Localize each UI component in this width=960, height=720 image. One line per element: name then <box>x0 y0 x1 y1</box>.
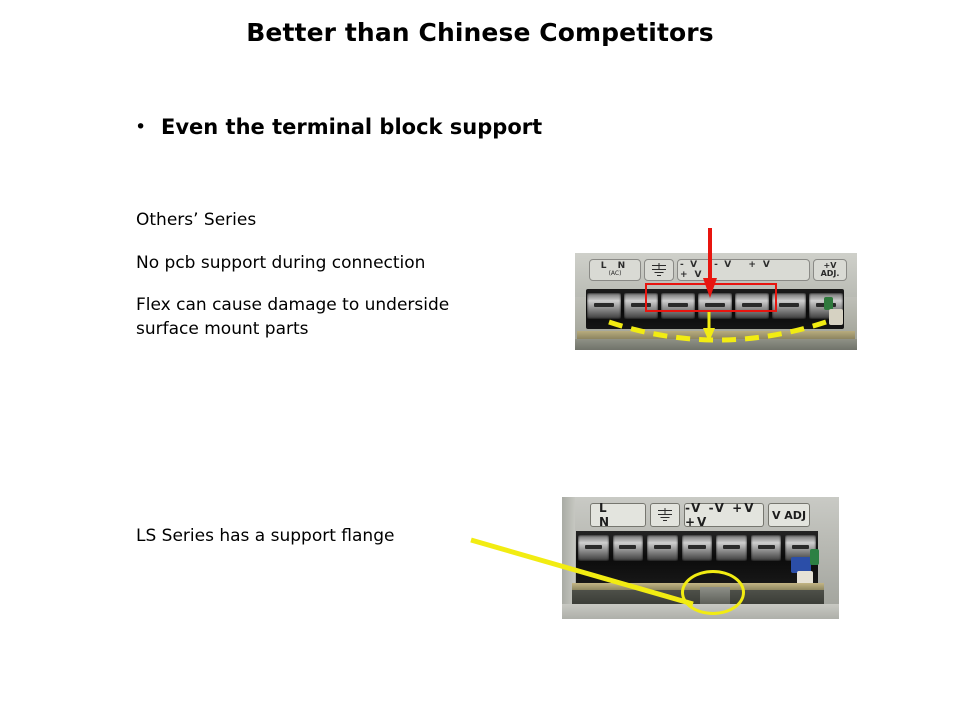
label-ac-text: (AC) <box>609 270 622 278</box>
label-v-adj-bottom: ADJ. <box>821 270 840 278</box>
label-ground <box>650 503 680 527</box>
no-pcb-support-label: No pcb support during connection <box>136 251 425 275</box>
ground-icon <box>657 508 673 522</box>
label-ln-ac: L N (AC) <box>589 259 641 281</box>
green-component <box>810 549 819 565</box>
label-voltage-rail: -V -V +V +V <box>684 503 764 527</box>
white-component <box>829 309 843 325</box>
bullet-heading-label: Even the terminal block support <box>161 113 542 141</box>
label-ground <box>644 259 674 281</box>
flex-damage-label: Flex can cause damage to underside surfa… <box>136 293 556 341</box>
label-v-adj: +V ADJ. <box>813 259 847 281</box>
page-title: Better than Chinese Competitors <box>0 18 960 47</box>
ground-icon <box>651 263 667 277</box>
yellow-dashed-flex-curve <box>605 312 830 352</box>
label-ln-text: L N <box>601 262 629 270</box>
label-voltage-rail: -V -V +V +V <box>677 259 810 281</box>
slide-canvas: Better than Chinese Competitors • Even t… <box>0 0 960 720</box>
terminal-label-strip: L N (AC) -V -V +V +V +V ADJ. <box>589 257 847 283</box>
ls-series-flange-label: LS Series has a support flange <box>136 524 394 548</box>
terminal-label-strip: L N -V -V +V +V V ADJ <box>590 502 810 528</box>
bullet-marker-icon: • <box>135 113 161 141</box>
red-down-arrow-icon <box>703 228 717 298</box>
others-series-label: Others’ Series <box>136 208 256 232</box>
label-v-adj: V ADJ <box>768 503 810 527</box>
bullet-heading: • Even the terminal block support <box>135 113 542 141</box>
label-l-n: L N <box>590 503 646 527</box>
terminal-screw <box>751 535 782 561</box>
yellow-highlight-ellipse <box>681 570 745 615</box>
